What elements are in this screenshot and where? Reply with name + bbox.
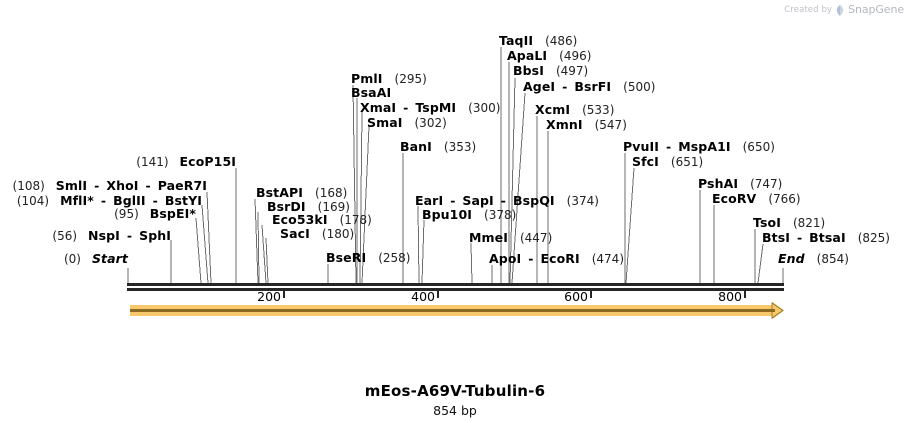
orf-arrow-svg <box>0 0 910 423</box>
orf-arrow-core <box>130 309 775 312</box>
sequence-length-label: 854 bp <box>0 403 910 418</box>
snapgene-linear-map: Created by SnapGene <box>0 0 910 423</box>
orf-arrow[interactable] <box>0 0 910 423</box>
page-title: mEos-A69V-Tubulin-6 <box>0 382 910 400</box>
title-block: mEos-A69V-Tubulin-6 854 bp <box>0 382 910 418</box>
